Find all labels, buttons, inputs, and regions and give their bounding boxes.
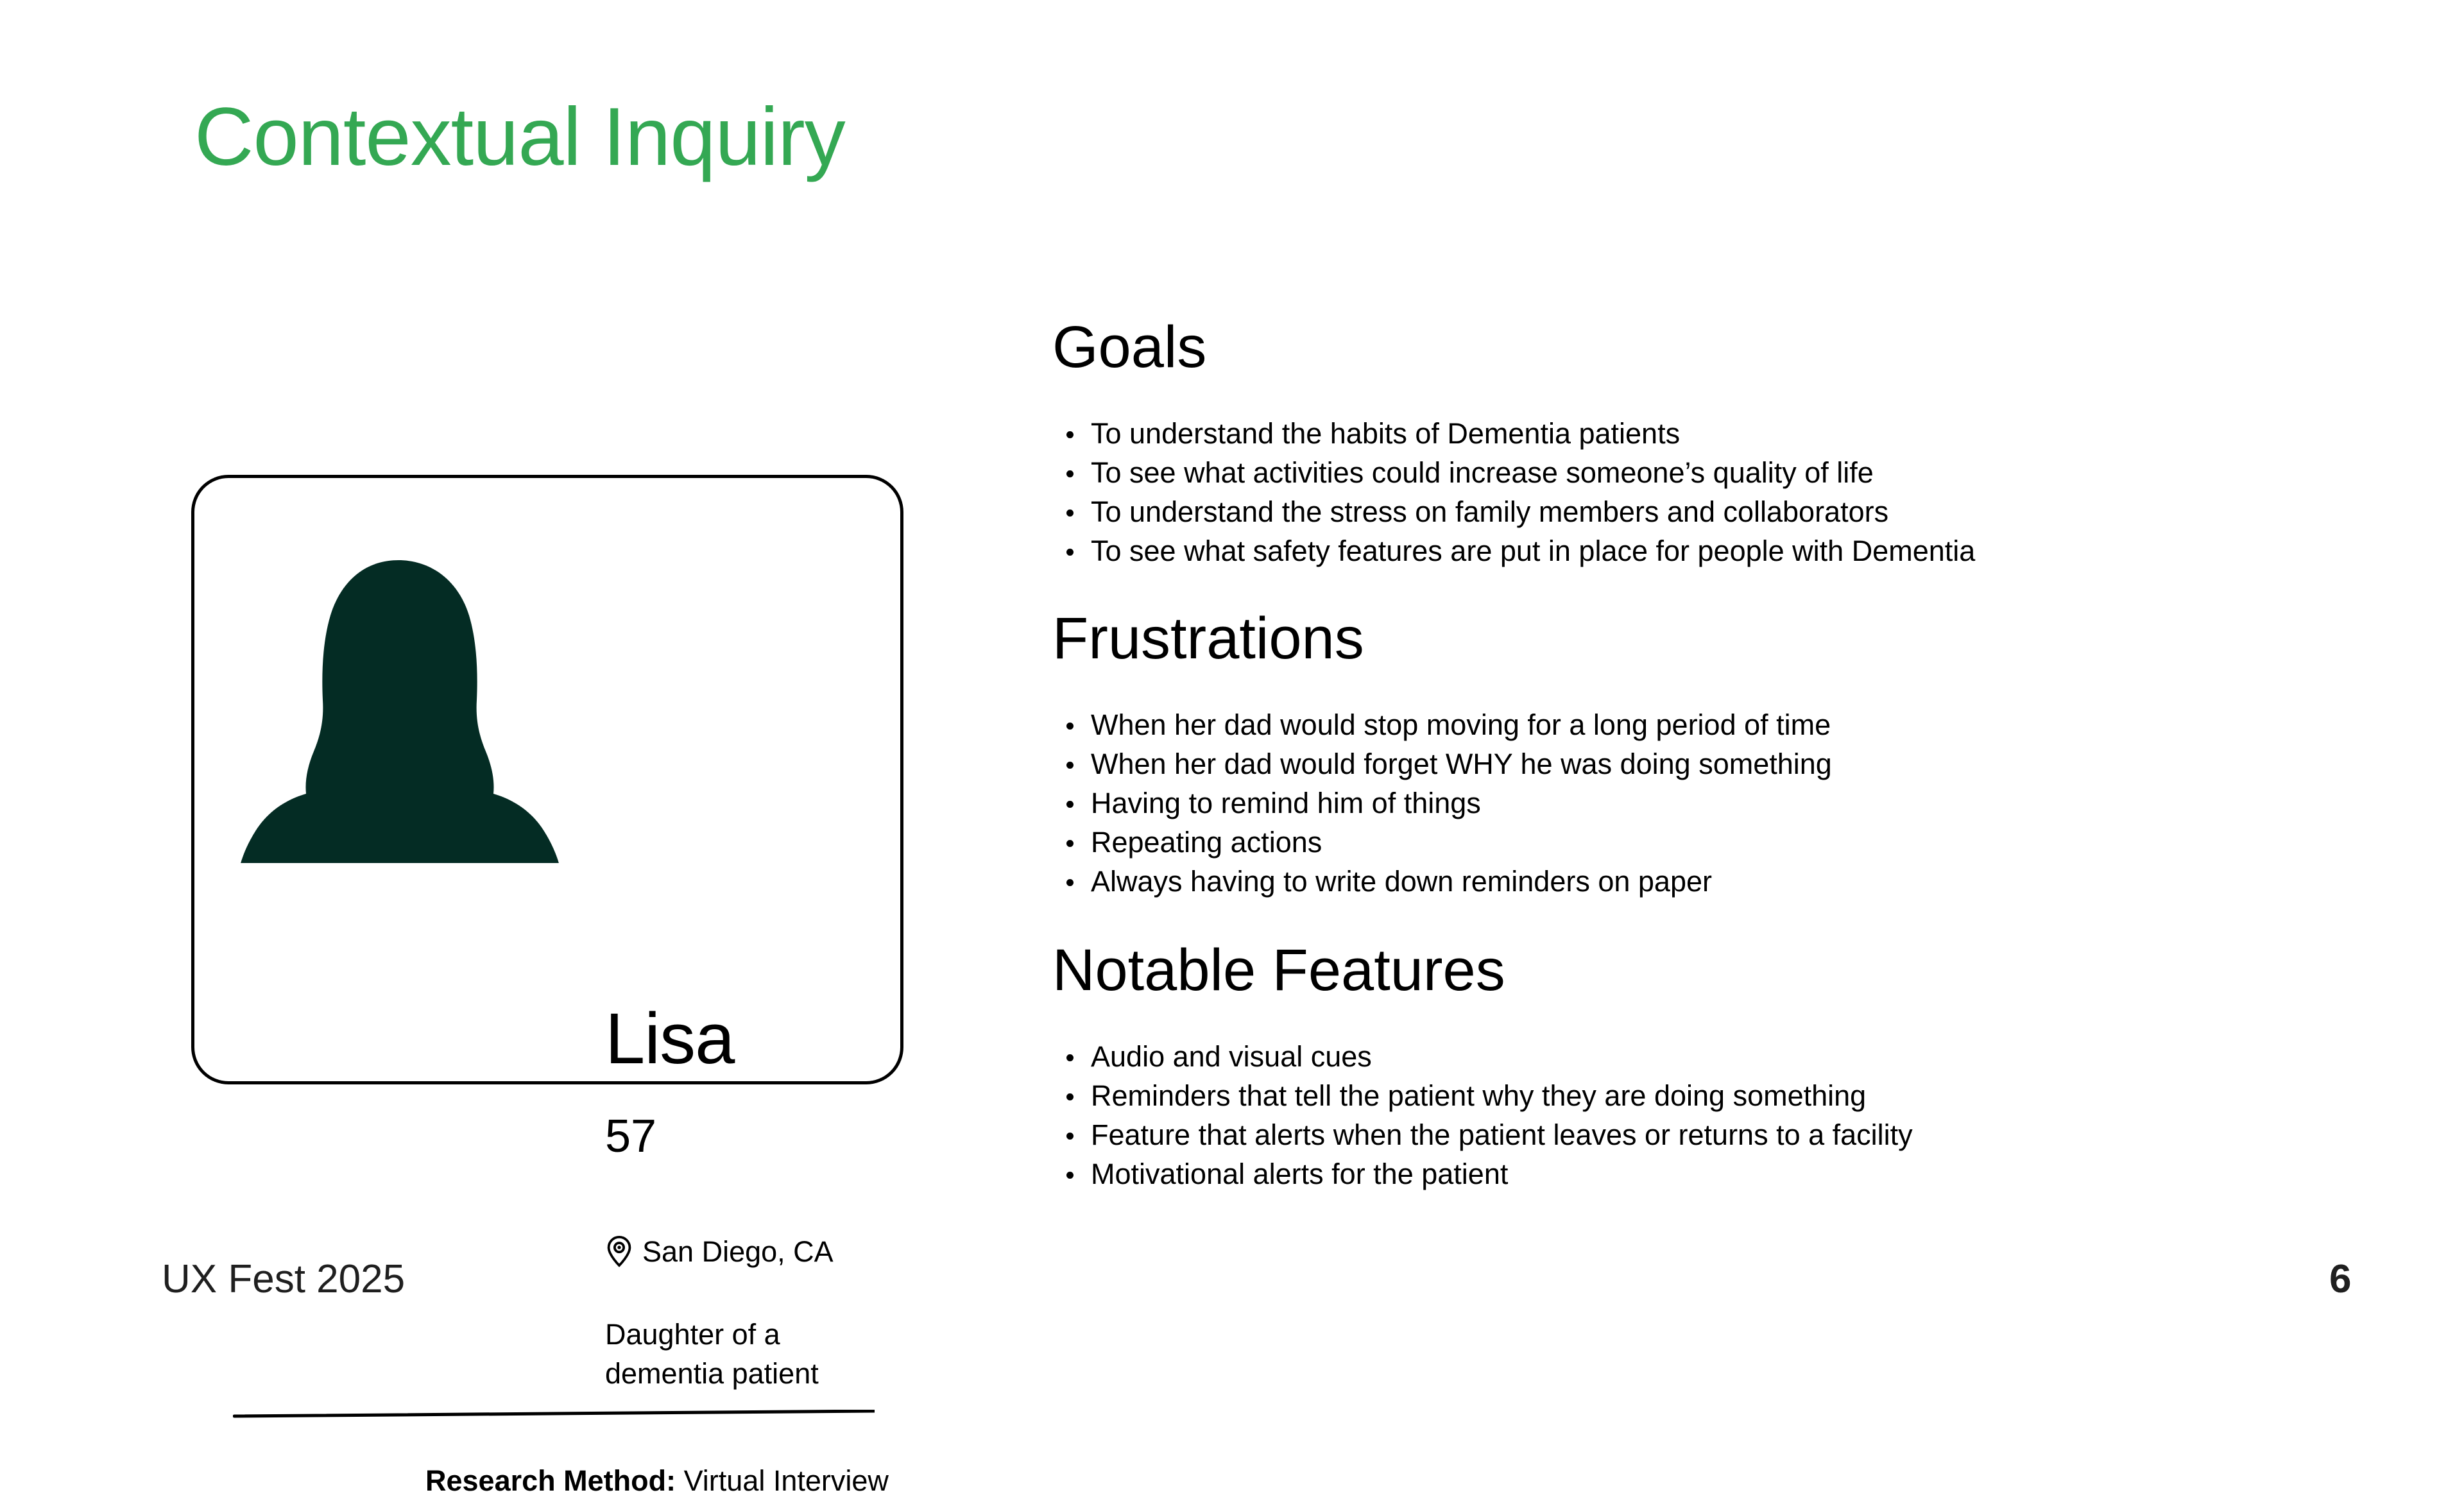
list-item: Feature that alerts when the patient lea… — [1052, 1115, 2336, 1154]
list-item: Audio and visual cues — [1052, 1037, 2336, 1076]
list-item: To understand the stress on family membe… — [1052, 492, 2336, 531]
goals-list: To understand the habits of Dementia pat… — [1052, 414, 2336, 570]
persona-age: 57 — [605, 1113, 656, 1159]
research-method-label: Research Method: — [425, 1464, 676, 1497]
section-notable-features: Notable Features Audio and visual cues R… — [1052, 941, 2336, 1193]
page-title: Contextual Inquiry — [194, 96, 845, 178]
persona-location-label: San Diego, CA — [642, 1237, 834, 1266]
avatar — [233, 549, 567, 863]
frustrations-list: When her dad would stop moving for a lon… — [1052, 705, 2336, 901]
list-item: When her dad would stop moving for a lon… — [1052, 705, 2336, 744]
list-item: To see what safety features are put in p… — [1052, 531, 2336, 570]
research-method-value: Virtual Interview — [684, 1464, 889, 1497]
list-item: Always having to write down reminders on… — [1052, 862, 2336, 901]
research-method: Research Method: Virtual Interview — [425, 1466, 889, 1495]
section-heading-frustrations: Frustrations — [1052, 609, 2336, 668]
persona-card: Lisa 57 San Diego, CA Daughter of a deme… — [191, 475, 903, 1084]
section-goals: Goals To understand the habits of Dement… — [1052, 318, 2336, 570]
slide-canvas: { "slide": { "title": "Contextual Inquir… — [0, 0, 2464, 1386]
list-item: When her dad would forget WHY he was doi… — [1052, 744, 2336, 783]
persona-name: Lisa — [605, 1003, 734, 1075]
list-item: Repeating actions — [1052, 823, 2336, 862]
list-item: Having to remind him of things — [1052, 783, 2336, 823]
list-item: Reminders that tell the patient why they… — [1052, 1076, 2336, 1115]
section-heading-goals: Goals — [1052, 318, 2336, 377]
section-frustrations: Frustrations When her dad would stop mov… — [1052, 609, 2336, 901]
section-heading-notable-features: Notable Features — [1052, 941, 2336, 1000]
list-item: To understand the habits of Dementia pat… — [1052, 414, 2336, 453]
notable-features-list: Audio and visual cues Reminders that tel… — [1052, 1037, 2336, 1193]
person-silhouette-icon — [233, 549, 567, 863]
footer-event-label: UX Fest 2025 — [162, 1260, 405, 1299]
persona-relation: Daughter of a dementia patient — [605, 1315, 887, 1394]
map-pin-icon — [605, 1235, 633, 1267]
page-number: 6 — [2329, 1260, 2351, 1299]
list-item: Motivational alerts for the patient — [1052, 1154, 2336, 1193]
persona-location: San Diego, CA — [605, 1235, 834, 1267]
list-item: To see what activities could increase so… — [1052, 453, 2336, 492]
insight-sections: Goals To understand the habits of Dement… — [1052, 318, 2336, 1193]
card-divider — [233, 1410, 875, 1419]
